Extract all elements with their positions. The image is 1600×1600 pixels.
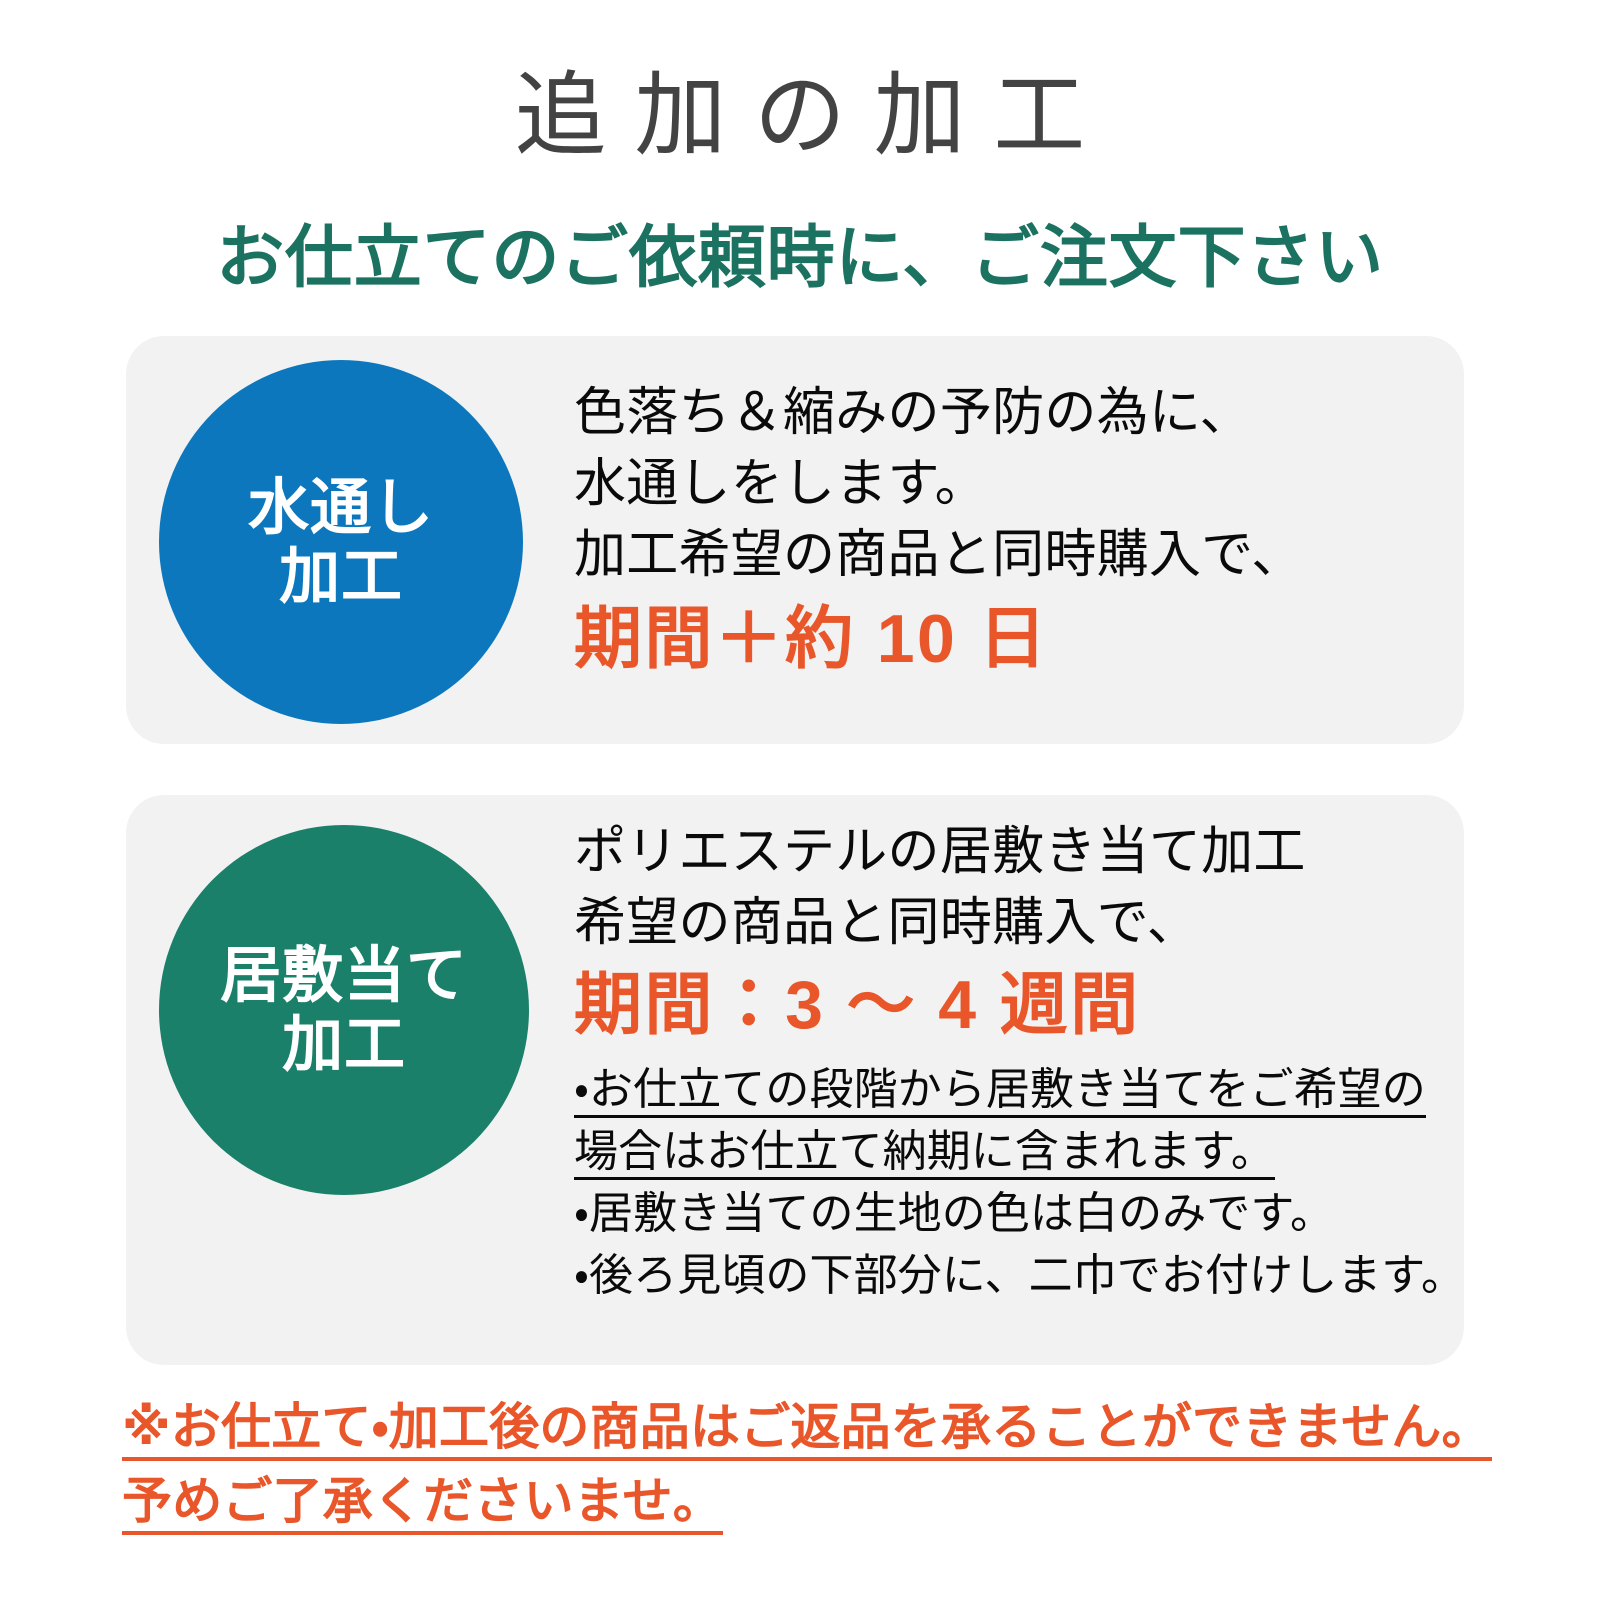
badge-mizutoshi: 水通し 加工	[159, 360, 523, 724]
warning-line-2: 予めご了承くださいませ。	[122, 1464, 1502, 1538]
card-ishikiate-body: ポリエステルの居敷き当て加工 希望の商品と同時購入で、 期間：3 〜 4 週間 …	[574, 817, 1440, 1307]
badge-ishikiate: 居敷当て 加工	[159, 825, 529, 1195]
card-mizutoshi-duration-highlight: 期間＋約 10 日	[574, 593, 1440, 685]
card-ishikiate-body-line-2: 希望の商品と同時購入で、	[574, 888, 1440, 959]
card-mizutoshi-body: 色落ち＆縮みの予防の為に、 水通しをします。 加工希望の商品と同時購入で、 期間…	[574, 378, 1440, 685]
card-ishikiate-notes: ・お仕立ての段階から居敷き当てをご希望の 場合はお仕立て納期に含まれます。 ・居…	[574, 1059, 1440, 1307]
card-mizutoshi: 水通し 加工 色落ち＆縮みの予防の為に、 水通しをします。 加工希望の商品と同時…	[126, 336, 1464, 744]
card-mizutoshi-body-line-2: 水通しをします。	[574, 449, 1440, 520]
badge-mizutoshi-line2: 加工	[279, 542, 403, 611]
warning-line-2-text: 予めご了承くださいませ。	[122, 1473, 723, 1535]
card-mizutoshi-body-line-1: 色落ち＆縮みの予防の為に、	[574, 378, 1440, 449]
note-text: ・お仕立ての段階から居敷き当てをご希望の	[574, 1065, 1426, 1118]
card-mizutoshi-body-line-3: 加工希望の商品と同時購入で、	[574, 520, 1440, 591]
note-item: 場合はお仕立て納期に含まれます。	[574, 1121, 1440, 1183]
card-ishikiate-duration-highlight: 期間：3 〜 4 週間	[574, 959, 1440, 1051]
note-text: ・居敷き当ての生地の色は白のみです。	[574, 1189, 1334, 1238]
note-text: ・後ろ見頃の下部分に、二巾でお付けします。	[574, 1251, 1465, 1300]
card-ishikiate-body-line-1: ポリエステルの居敷き当て加工	[574, 817, 1440, 888]
card-ishikiate: 居敷当て 加工 ポリエステルの居敷き当て加工 希望の商品と同時購入で、 期間：3…	[126, 795, 1464, 1365]
note-item: ・後ろ見頃の下部分に、二巾でお付けします。	[574, 1245, 1440, 1307]
note-text: 場合はお仕立て納期に含まれます。	[574, 1127, 1275, 1180]
page-subtitle: お仕立てのご依頼時に、ご注文下さい	[0, 216, 1600, 300]
badge-mizutoshi-line1: 水通し	[248, 473, 434, 542]
note-item: ・居敷き当ての生地の色は白のみです。	[574, 1183, 1440, 1245]
warning-line-1: ※お仕立て・加工後の商品はご返品を承ることができません。	[122, 1390, 1502, 1464]
page-title: 追加の加工	[0, 62, 1600, 170]
return-policy-warning: ※お仕立て・加工後の商品はご返品を承ることができません。 予めご了承くださいませ…	[122, 1390, 1502, 1538]
warning-line-1-text: ※お仕立て・加工後の商品はご返品を承ることができません。	[122, 1399, 1492, 1461]
badge-ishikiate-line2: 加工	[282, 1010, 406, 1079]
note-item: ・お仕立ての段階から居敷き当てをご希望の	[574, 1059, 1440, 1121]
badge-ishikiate-line1: 居敷当て	[220, 941, 468, 1010]
promo-page: 追加の加工 お仕立てのご依頼時に、ご注文下さい 水通し 加工 色落ち＆縮みの予防…	[0, 0, 1600, 1600]
